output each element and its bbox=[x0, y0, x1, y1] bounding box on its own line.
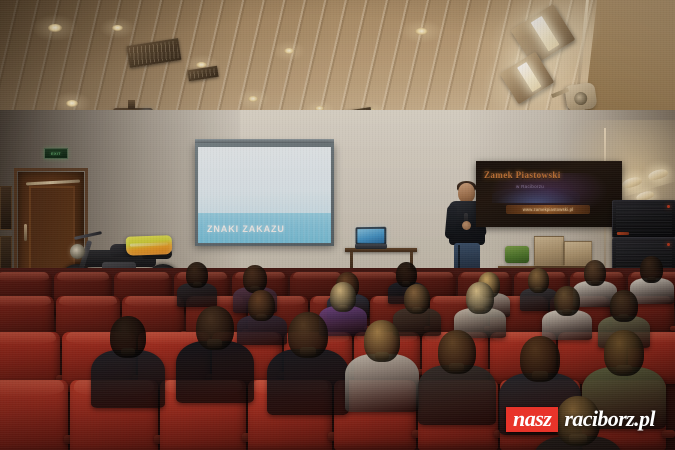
display-box-1 bbox=[534, 236, 564, 266]
event-banner: Zamek Piastowski w Raciborzu www.zamekpi… bbox=[476, 161, 622, 227]
person-front-6 bbox=[520, 336, 560, 382]
audience-head bbox=[466, 282, 494, 314]
audience-shoulders bbox=[267, 349, 349, 415]
downlight-1 bbox=[48, 24, 62, 32]
seat-top-highlight bbox=[0, 296, 51, 307]
slide-title: ZNAKI ZAKAZU bbox=[207, 224, 285, 234]
seat-top-highlight bbox=[125, 296, 181, 307]
door-push-bar[interactable] bbox=[26, 180, 80, 186]
audience-shoulders bbox=[91, 350, 165, 408]
audience-shoulders bbox=[345, 354, 419, 412]
person-mid-1 bbox=[330, 282, 356, 312]
photo-scene: ZNAKI ZAKAZU EXIT bbox=[0, 0, 675, 450]
downlight-5 bbox=[248, 96, 258, 102]
person-mid-5 bbox=[554, 286, 580, 316]
watermark-brand-prefix: nasz bbox=[506, 407, 558, 432]
emergency-exit-sign: EXIT bbox=[44, 148, 68, 159]
downlight-bulb-icon bbox=[66, 100, 78, 107]
motorcycle-handlebar bbox=[74, 231, 102, 240]
audience-head bbox=[110, 316, 146, 358]
audience-head bbox=[528, 268, 549, 293]
person-back-8 bbox=[640, 256, 663, 283]
audience-head bbox=[610, 290, 638, 322]
audience-head bbox=[520, 336, 560, 382]
downlight-bulb-icon bbox=[248, 96, 258, 102]
speaker-grille bbox=[616, 204, 672, 234]
person-front-7 bbox=[604, 330, 644, 376]
seat-top-highlight bbox=[57, 272, 109, 282]
banner-title: Zamek Piastowski bbox=[484, 170, 616, 180]
audience-head bbox=[288, 312, 328, 358]
presentation-laptop[interactable] bbox=[355, 227, 386, 245]
watermark-logo: nasz raciborz.pl bbox=[506, 407, 659, 432]
person-front-3 bbox=[288, 312, 328, 358]
speaker-power-led-icon bbox=[667, 243, 670, 246]
speaker-cone-icon bbox=[573, 91, 588, 106]
watermark-brand-suffix: raciborz.pl bbox=[558, 407, 659, 432]
banner-url-bar: www.zamekpiastowski.pl bbox=[506, 205, 590, 214]
seat-top-highlight bbox=[59, 296, 117, 307]
downlight-bulb-icon bbox=[112, 25, 123, 31]
green-display-item bbox=[505, 246, 529, 263]
presenter-head bbox=[458, 183, 475, 203]
downlight-bulb-icon bbox=[284, 48, 294, 54]
audience-head bbox=[554, 286, 580, 316]
auditorium-seat[interactable] bbox=[0, 380, 68, 450]
audience-head bbox=[243, 265, 267, 293]
speaker-power-led-icon bbox=[667, 205, 670, 208]
person-mid-4 bbox=[248, 290, 275, 321]
banner-castle-artwork bbox=[492, 187, 580, 203]
projector-mount bbox=[128, 100, 135, 109]
audience-head bbox=[186, 262, 208, 288]
projection-screen-surface: ZNAKI ZAKAZU bbox=[198, 147, 331, 243]
speaker-logo bbox=[617, 232, 629, 235]
projection-screen: ZNAKI ZAKAZU bbox=[195, 143, 334, 246]
person-front-2 bbox=[196, 306, 234, 350]
audience-head bbox=[196, 306, 234, 350]
seat-armrest bbox=[670, 326, 675, 331]
fluorescent-fixture-2 bbox=[500, 52, 555, 105]
laptop-keyboard-base[interactable] bbox=[355, 244, 387, 249]
audience-head bbox=[364, 320, 400, 362]
exit-sign-label: EXIT bbox=[51, 151, 61, 156]
motorcycle-headlamp-icon bbox=[70, 244, 85, 259]
seat-top-highlight bbox=[293, 272, 342, 280]
person-mid-6 bbox=[610, 290, 638, 322]
audience-head bbox=[330, 282, 356, 312]
audience-head bbox=[604, 330, 644, 376]
downlight-3 bbox=[112, 25, 123, 31]
person-back-1 bbox=[186, 262, 208, 288]
wall-poster-1 bbox=[0, 186, 12, 230]
person-back-6 bbox=[528, 268, 549, 293]
downlight-bulb-icon bbox=[415, 28, 428, 35]
audience-head bbox=[404, 284, 430, 314]
downlight-7 bbox=[415, 28, 428, 35]
person-front-4 bbox=[364, 320, 400, 362]
audience-head bbox=[438, 330, 476, 374]
downlight-2 bbox=[66, 100, 78, 107]
vent-grille bbox=[190, 68, 217, 79]
seat-armrest bbox=[662, 430, 675, 438]
presenter-hand bbox=[462, 221, 471, 230]
audience-shoulders bbox=[176, 341, 254, 403]
seat-top-highlight bbox=[117, 272, 169, 281]
person-back-2 bbox=[243, 265, 267, 293]
person-front-1 bbox=[110, 316, 146, 358]
speaker-box-top bbox=[612, 200, 675, 238]
person-mid-2 bbox=[404, 284, 430, 314]
person-mid-3 bbox=[466, 282, 494, 314]
laptop-screen bbox=[357, 229, 384, 243]
downlight-bulb-icon bbox=[48, 24, 62, 32]
audience-head bbox=[248, 290, 275, 321]
hi-vis-vest bbox=[126, 235, 173, 256]
person-front-5 bbox=[438, 330, 476, 374]
banner-subtitle: w Raciborzu bbox=[516, 184, 614, 189]
downlight-9 bbox=[284, 48, 294, 54]
audience-shoulders bbox=[418, 365, 496, 425]
audience-head bbox=[640, 256, 663, 283]
seat-top-highlight bbox=[0, 272, 49, 282]
banner-url-text: www.zamekpiastowski.pl bbox=[523, 207, 573, 212]
wall-mounted-speaker bbox=[564, 82, 597, 112]
door-handle-icon[interactable] bbox=[24, 224, 27, 241]
audience-head bbox=[584, 260, 606, 286]
person-back-7 bbox=[584, 260, 606, 286]
